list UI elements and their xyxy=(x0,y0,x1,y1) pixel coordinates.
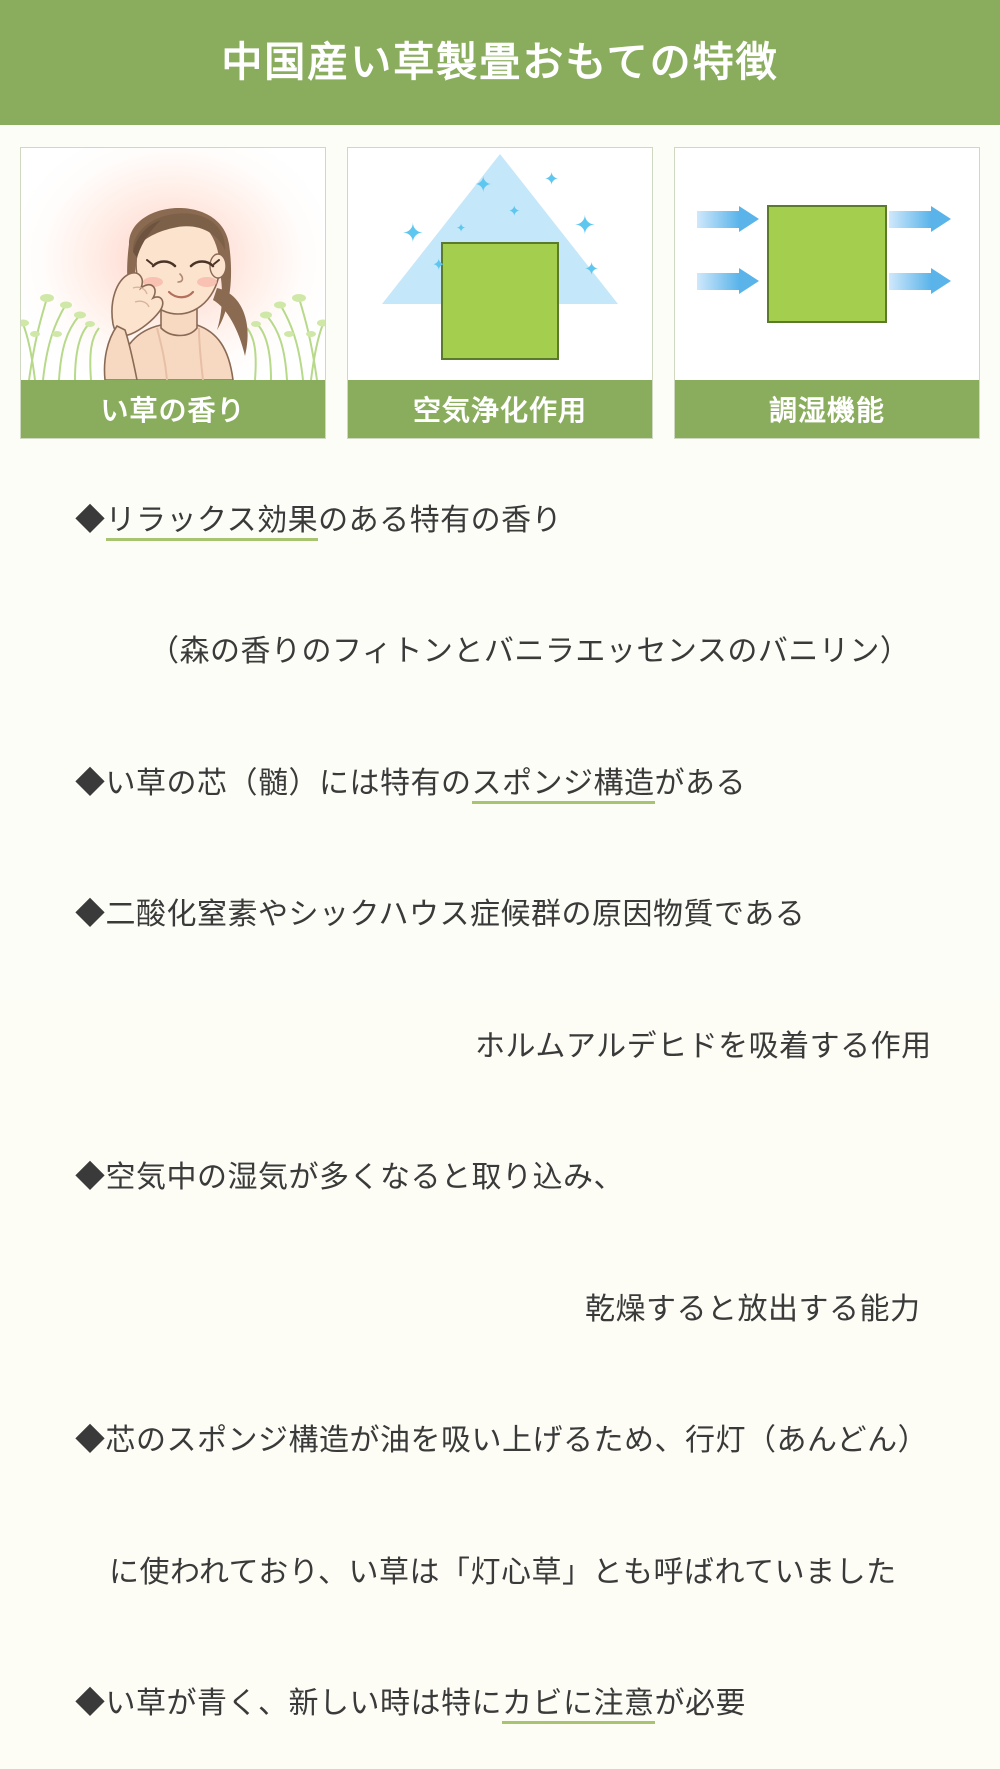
page-header: 中国産い草製畳おもての特徴 xyxy=(0,0,1000,125)
feature-card-air-purification: ✦ ✦ ✦ ✦ ✦ ✦ ✦ ✦ 空気浄化作用 xyxy=(347,147,653,439)
woman-smelling-illustration xyxy=(21,148,325,380)
bullet-marker: ◆ xyxy=(75,898,106,931)
sparkle-icon: ✦ xyxy=(508,204,521,219)
list-item: ◆二酸化窒素やシックハウス症候群の原因物質である xyxy=(22,850,978,981)
sparkle-icon: ✦ xyxy=(544,170,559,188)
feature-card-row: い草の香り ✦ ✦ ✦ ✦ ✦ ✦ ✦ ✦ 空気浄化作用 xyxy=(0,125,1000,439)
feature-card-humidity: 調湿機能 xyxy=(674,147,980,439)
card-label-scent: い草の香り xyxy=(21,380,325,438)
humidity-control-illustration xyxy=(675,148,979,380)
woman-illustration-svg xyxy=(21,148,325,380)
sparkle-icon: ✦ xyxy=(574,212,596,238)
sparkle-icon: ✦ xyxy=(432,258,445,274)
list-item: 乾燥すると放出する能力 xyxy=(22,1244,978,1375)
list-item-text: 空気中の湿気が多くなると取り込み、 xyxy=(106,1161,625,1194)
list-item-text: い草の芯（髄）には特有の xyxy=(106,767,472,800)
list-item-text: ホルムアルデヒドを吸着する作用 xyxy=(475,1030,932,1063)
list-item: （森の香りのフィトンとバニラエッセンスのバニリン） xyxy=(22,587,978,718)
airflow-arrow-in xyxy=(697,206,759,232)
list-item: に使われており、い草は「灯心草」とも呼ばれていました xyxy=(22,1507,978,1638)
airflow-arrow-out xyxy=(889,206,951,232)
list-item-text: がある xyxy=(655,767,747,800)
list-item-text-highlight: スポンジ構造 xyxy=(472,767,655,804)
airflow-arrow-in xyxy=(697,268,759,294)
sparkle-icon: ✦ xyxy=(584,260,599,278)
page-root: 中国産い草製畳おもての特徴 xyxy=(0,0,1000,1000)
feature-card-scent: い草の香り xyxy=(20,147,326,439)
list-item-text-highlight: リラックス効果 xyxy=(106,504,319,541)
list-item: ◆い草が青く、新しい時は特にカビに注意が必要 xyxy=(22,1639,978,1769)
card-label-air-purification: 空気浄化作用 xyxy=(348,380,652,438)
page-title: 中国産い草製畳おもての特徴 xyxy=(221,38,778,87)
sparkle-icon: ✦ xyxy=(474,174,492,196)
list-item: ◆空気中の湿気が多くなると取り込み、 xyxy=(22,1113,978,1244)
list-item-text: （森の香りのフィトンとバニラエッセンスのバニリン） xyxy=(149,635,910,668)
bullet-marker: ◆ xyxy=(75,1687,106,1720)
tatami-mat-shape xyxy=(767,205,887,323)
list-item-text: 芯のスポンジ構造が油を吸い上げるため、行灯（あんどん） xyxy=(106,1424,929,1457)
bullet-marker: ◆ xyxy=(75,1161,106,1194)
list-item-text-highlight: カビに注意 xyxy=(502,1687,655,1724)
list-item-text: のある特有の香り xyxy=(318,504,562,537)
bullet-marker: ◆ xyxy=(75,767,106,800)
sparkle-icon: ✦ xyxy=(456,222,466,234)
list-item: ホルムアルデヒドを吸着する作用 xyxy=(22,981,978,1112)
card-label-humidity: 調湿機能 xyxy=(675,380,979,438)
bullet-marker: ◆ xyxy=(75,1424,106,1457)
sparkle-icon: ✦ xyxy=(402,220,424,246)
list-item: ◆リラックス効果のある特有の香り xyxy=(22,455,978,586)
bullet-marker: ◆ xyxy=(75,504,106,537)
tatami-mat-shape xyxy=(441,242,559,360)
list-item-text: い草が青く、新しい時は特に xyxy=(106,1687,503,1720)
list-item-text: が必要 xyxy=(655,1687,747,1720)
airflow-arrow-out xyxy=(889,268,951,294)
list-item-text: に使われており、い草は「灯心草」とも呼ばれていました xyxy=(109,1556,897,1589)
list-item-text: 二酸化窒素やシックハウス症候群の原因物質である xyxy=(106,898,806,931)
list-item-text: 乾燥すると放出する能力 xyxy=(585,1293,921,1326)
feature-bullet-list: ◆リラックス効果のある特有の香り （森の香りのフィトンとバニラエッセンスのバニリ… xyxy=(0,439,1000,1769)
air-purification-illustration: ✦ ✦ ✦ ✦ ✦ ✦ ✦ ✦ xyxy=(348,148,652,380)
list-item: ◆芯のスポンジ構造が油を吸い上げるため、行灯（あんどん） xyxy=(22,1376,978,1507)
list-item: ◆い草の芯（髄）には特有のスポンジ構造がある xyxy=(22,718,978,849)
